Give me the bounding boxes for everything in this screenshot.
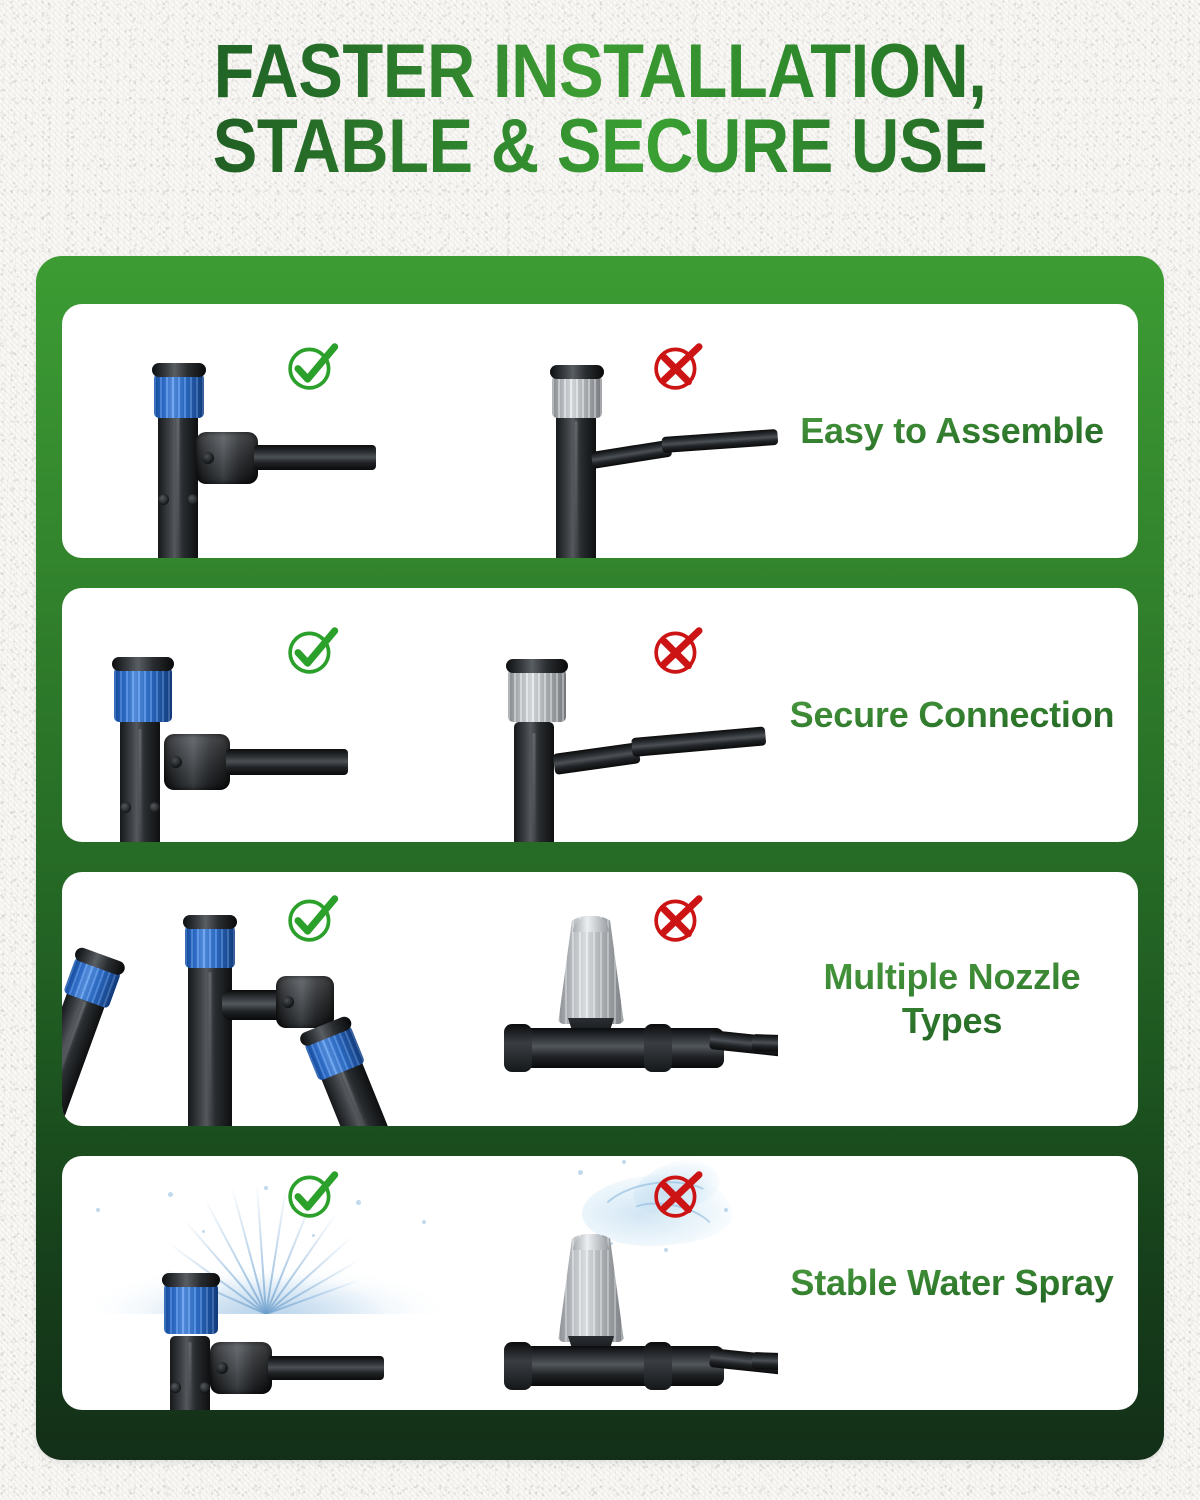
- feature-visual-stable-water-spray: [62, 1156, 778, 1410]
- feature-label-easy-to-assemble: Easy to Assemble: [778, 304, 1138, 558]
- water-tube: [752, 1352, 778, 1370]
- water-spray-streaks: [62, 1174, 480, 1314]
- stake-screws: [170, 1382, 210, 1393]
- check-circle-icon: [284, 338, 340, 394]
- blue-cap: [185, 924, 235, 968]
- tee-body: [504, 1346, 724, 1386]
- feature-label-secure-connection: Secure Connection: [778, 588, 1138, 842]
- barb-connector-puck: [210, 1342, 272, 1394]
- water-tube: [268, 1356, 384, 1380]
- tee-body: [504, 1028, 724, 1068]
- cross-circle-icon: [650, 622, 706, 678]
- check-circle-icon: [284, 1166, 340, 1222]
- grey-mist-nozzle: [558, 916, 624, 1024]
- stake-screws: [120, 802, 160, 813]
- feature-visual-multiple-nozzle-types: [62, 872, 778, 1126]
- feature-card-secure-connection: Secure Connection: [62, 588, 1138, 842]
- check-circle-icon: [284, 890, 340, 946]
- black-stake: [188, 958, 232, 1126]
- feature-label-multiple-nozzle-types: Multiple Nozzle Types: [778, 872, 1138, 1126]
- barb-connector-puck: [196, 432, 258, 484]
- feature-visual-easy-to-assemble: [62, 304, 778, 558]
- barb-connector-puck: [164, 734, 230, 790]
- page-title-line-1: FASTER INSTALLATION,: [107, 34, 1093, 109]
- screw-icon: [120, 802, 131, 813]
- page-title: FASTER INSTALLATION, STABLE & SECURE USE: [0, 34, 1200, 184]
- black-stake: [556, 408, 596, 558]
- screw-icon: [199, 1382, 210, 1393]
- feature-card-stable-water-spray: Stable Water Spray: [62, 1156, 1138, 1410]
- tee-ring: [504, 1342, 532, 1390]
- stake-screws: [158, 494, 198, 505]
- feature-label-text: Easy to Assemble: [800, 409, 1104, 453]
- nozzle-right: [302, 1014, 388, 1126]
- feature-visual-secure-connection: [62, 588, 778, 842]
- water-tube-bent-segment: [631, 726, 766, 757]
- grey-cap: [508, 668, 566, 722]
- tee-ring: [644, 1024, 672, 1072]
- feature-frame: Easy to Assemble: [36, 256, 1164, 1460]
- feature-label-text: Multiple Nozzle Types: [782, 955, 1122, 1043]
- black-stake: [514, 722, 554, 842]
- feature-card-easy-to-assemble: Easy to Assemble: [62, 304, 1138, 558]
- blue-cap: [114, 666, 172, 722]
- screw-icon: [170, 1382, 181, 1393]
- infographic-page: FASTER INSTALLATION, STABLE & SECURE USE: [0, 0, 1200, 1500]
- water-tube-bent-segment: [661, 429, 778, 453]
- screw-icon: [149, 802, 160, 813]
- blue-cap: [164, 1282, 218, 1334]
- feature-label-text: Stable Water Spray: [790, 1261, 1113, 1305]
- tee-ring: [644, 1342, 672, 1390]
- black-stake: [158, 404, 198, 558]
- screw-icon: [158, 494, 169, 505]
- water-tube-bent-segment: [553, 742, 641, 775]
- black-stake: [170, 1336, 210, 1410]
- check-circle-icon: [284, 622, 340, 678]
- grey-cap: [552, 374, 602, 418]
- grey-mist-nozzle: [558, 1234, 624, 1342]
- feature-card-multiple-nozzle-types: Multiple Nozzle Types: [62, 872, 1138, 1126]
- cross-circle-icon: [650, 338, 706, 394]
- feature-label-stable-water-spray: Stable Water Spray: [778, 1156, 1138, 1410]
- blue-cap: [154, 372, 204, 418]
- page-title-line-2: STABLE & SECURE USE: [107, 109, 1093, 184]
- water-tube: [752, 1034, 778, 1052]
- tee-ring: [504, 1024, 532, 1072]
- black-stake: [120, 718, 160, 842]
- water-tube: [226, 749, 348, 775]
- feature-label-text: Secure Connection: [790, 693, 1115, 737]
- water-tube-bent-segment: [591, 440, 673, 469]
- nozzle-left: [62, 943, 123, 1126]
- water-tube: [254, 445, 376, 470]
- cross-circle-icon: [650, 1166, 706, 1222]
- screw-icon: [187, 494, 198, 505]
- cross-circle-icon: [650, 890, 706, 946]
